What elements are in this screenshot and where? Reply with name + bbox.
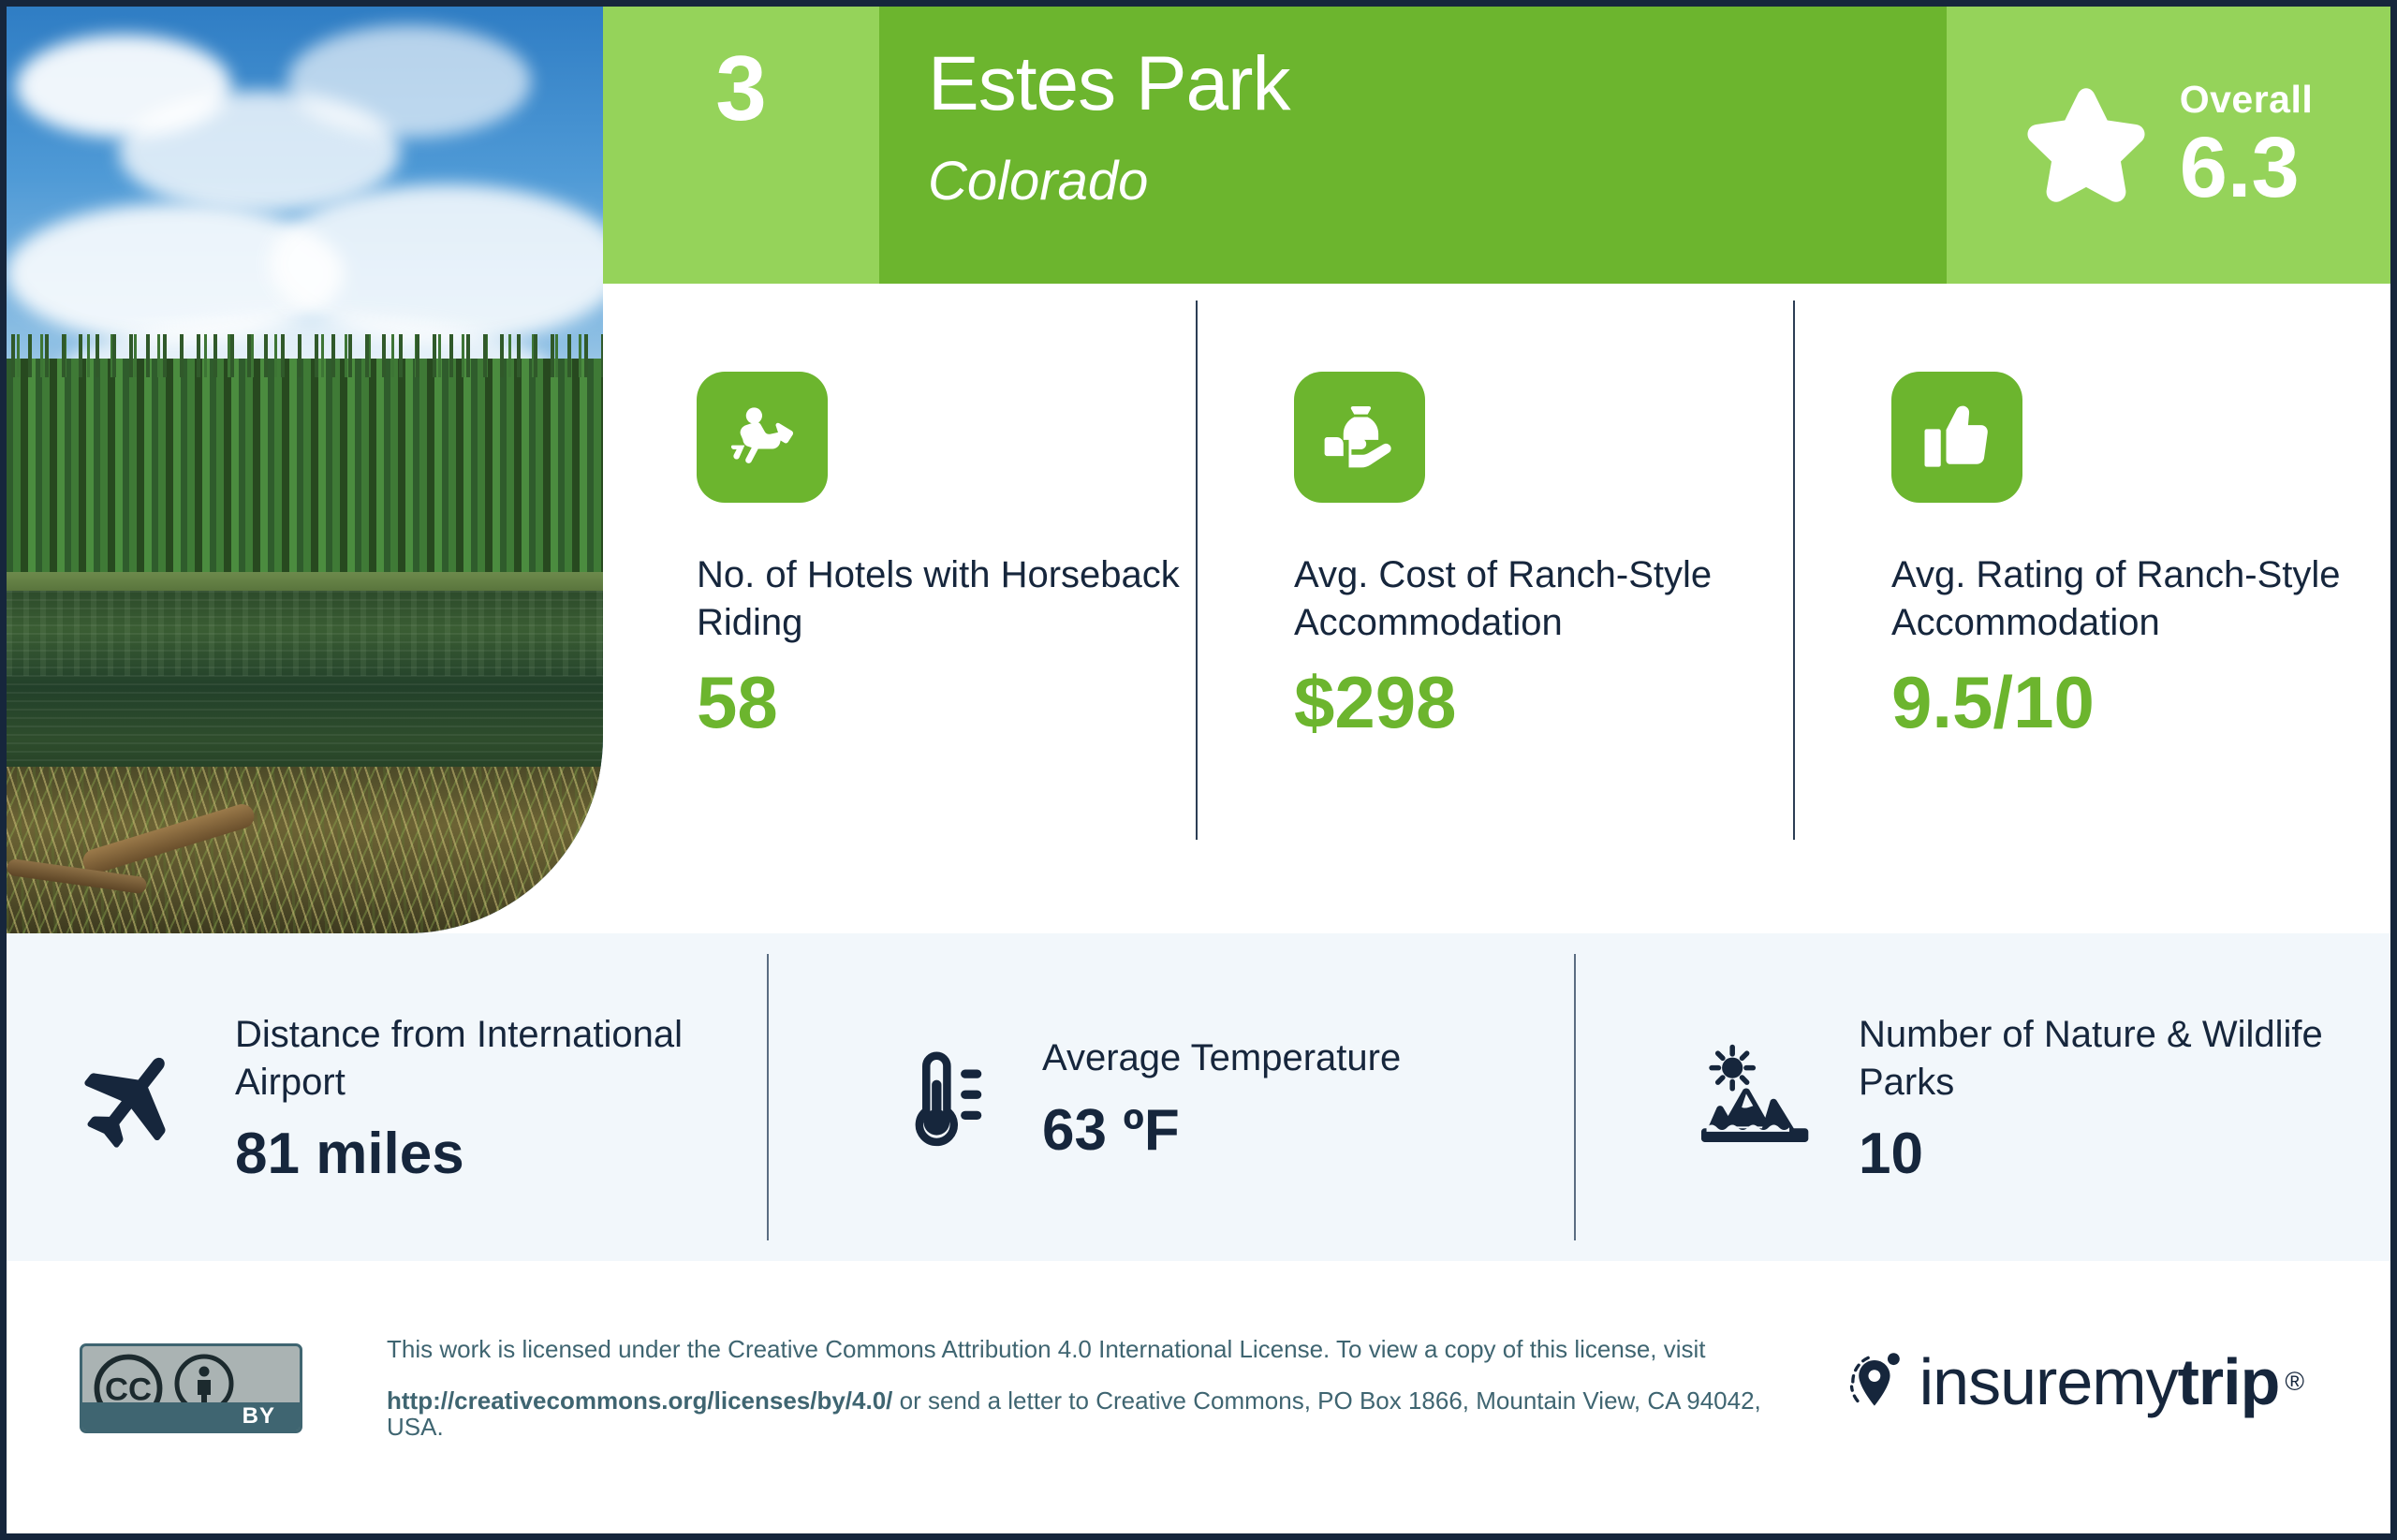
footer: CC BY This work is licensed under the Cr… xyxy=(7,1261,2390,1533)
bottom-stat-value: 81 miles xyxy=(235,1125,767,1183)
bottom-stat-label: Average Temperature xyxy=(1042,1034,1401,1082)
bottom-stat-average-temperature: Average Temperature 63 ºF xyxy=(767,933,1574,1261)
title-panel: Estes Park Colorado xyxy=(879,7,1947,284)
location-pin-icon xyxy=(1841,1343,1919,1420)
overall-label: Overall xyxy=(2180,81,2314,119)
stat-label: Avg. Cost of Ranch-Style Accommodation xyxy=(1294,551,1793,647)
thumbs-up-icon xyxy=(1891,372,2022,503)
stat-value: $298 xyxy=(1294,666,1793,739)
bottom-stat-nature-parks: Number of Nature & Wildlife Parks 10 xyxy=(1574,933,2390,1261)
airplane-icon xyxy=(72,1036,194,1158)
bottom-stat-text: Number of Nature & Wildlife Parks 10 xyxy=(1859,1011,2390,1183)
stats-section: No. of Hotels with Horseback Riding 58 A… xyxy=(603,284,2390,933)
registered-trademark-symbol: ® xyxy=(2285,1367,2304,1397)
photo-cloud xyxy=(287,25,531,138)
logo-text-primary: insuremy xyxy=(1919,1344,2178,1419)
destination-photo xyxy=(7,7,603,933)
stat-card-hotels-horseback: No. of Hotels with Horseback Riding 58 xyxy=(603,284,1196,933)
money-in-hand-icon xyxy=(1294,372,1425,503)
license-url[interactable]: http://creativecommons.org/licenses/by/4… xyxy=(387,1386,892,1415)
thermometer-icon xyxy=(879,1036,1001,1158)
bottom-stat-label: Number of Nature & Wildlife Parks xyxy=(1859,1011,2390,1107)
city-name: Estes Park xyxy=(928,46,1289,123)
bottom-stats-section: Distance from International Airport 81 m… xyxy=(7,933,2390,1261)
state-name: Colorado xyxy=(928,154,1148,209)
infographic-canvas: 3 Estes Park Colorado Overall 6.3 xyxy=(0,0,2397,1540)
stat-value: 58 xyxy=(697,666,1196,739)
stat-card-avg-rating: Avg. Rating of Ranch-Style Accommodation… xyxy=(1793,284,2390,933)
license-line-2: http://creativecommons.org/licenses/by/4… xyxy=(387,1387,1772,1441)
bottom-stat-label: Distance from International Airport xyxy=(235,1011,767,1107)
star-icon xyxy=(2024,83,2148,207)
mountain-sun-icon xyxy=(1696,1036,1817,1158)
bottom-stat-text: Distance from International Airport 81 m… xyxy=(235,1011,767,1183)
overall-value: 6.3 xyxy=(2180,125,2314,211)
bottom-stat-text: Average Temperature 63 ºF xyxy=(1042,1034,1401,1159)
bottom-stat-value: 63 ºF xyxy=(1042,1102,1401,1160)
stat-card-avg-cost: Avg. Cost of Ranch-Style Accommodation $… xyxy=(1196,284,1793,933)
photo-treeline xyxy=(7,359,603,591)
stats-cards: No. of Hotels with Horseback Riding 58 A… xyxy=(603,284,2390,933)
stat-label: No. of Hotels with Horseback Riding xyxy=(697,551,1196,647)
creative-commons-badge[interactable]: CC BY xyxy=(80,1343,302,1433)
rank-panel: 3 xyxy=(603,7,879,284)
bottom-stat-value: 10 xyxy=(1859,1125,2390,1183)
insuremytrip-logo[interactable]: insuremytrip® xyxy=(1841,1332,2304,1431)
license-text: This work is licensed under the Creative… xyxy=(387,1336,1772,1441)
logo-text-bold: trip xyxy=(2178,1344,2280,1419)
overall-score-text: Overall 6.3 xyxy=(2180,81,2314,211)
bottom-stat-airport-distance: Distance from International Airport 81 m… xyxy=(7,933,767,1261)
stat-value: 9.5/10 xyxy=(1891,666,2390,739)
stat-label: Avg. Rating of Ranch-Style Accommodation xyxy=(1891,551,2390,647)
cc-by-text: BY xyxy=(243,1403,275,1430)
overall-score-panel: Overall 6.3 xyxy=(1947,7,2390,284)
horseback-riding-icon xyxy=(697,372,828,503)
rank-number: 3 xyxy=(603,42,879,134)
license-line-1: This work is licensed under the Creative… xyxy=(387,1336,1772,1363)
